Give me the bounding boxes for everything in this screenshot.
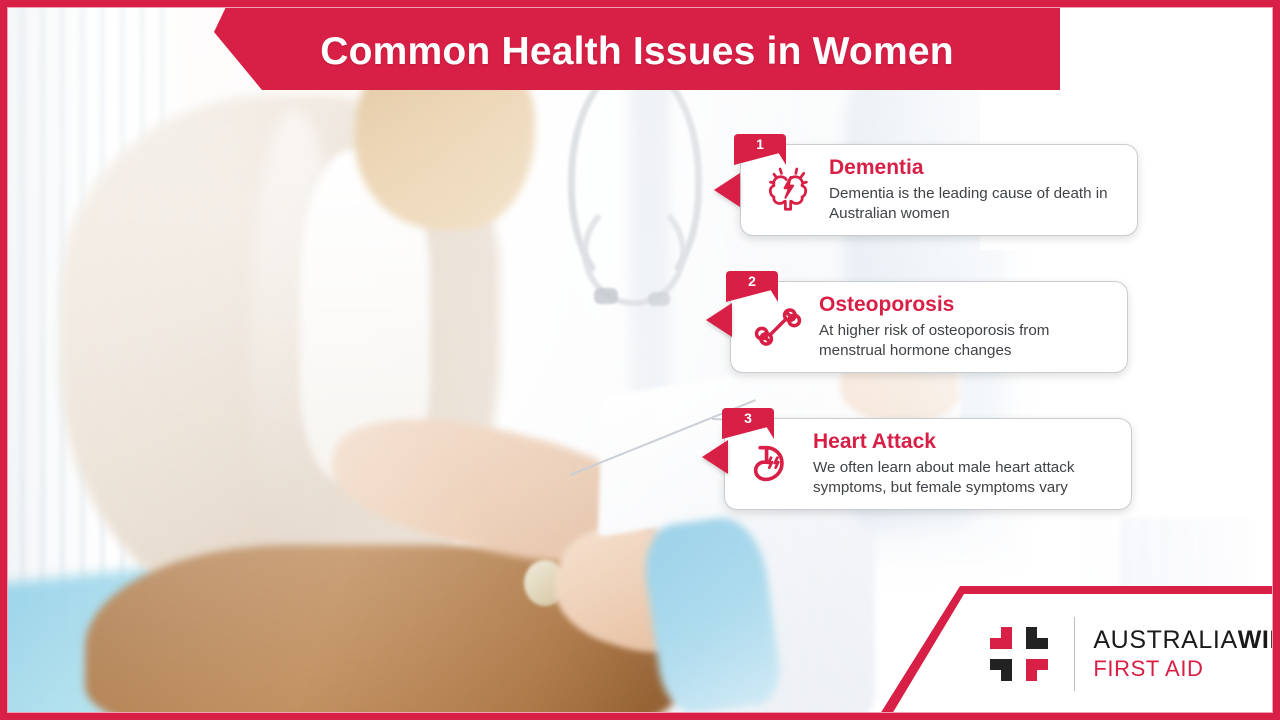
card-description: We often learn about male heart attack s…: [813, 458, 1117, 498]
card-pointer-arrow-3: [702, 440, 728, 474]
page-title: Common Health Issues in Women: [320, 30, 954, 74]
logo-brand-bold: WIDE: [1238, 626, 1280, 654]
title-banner: Common Health Issues in Women: [214, 0, 1060, 90]
card-pointer-arrow-1: [714, 173, 740, 207]
info-card-dementia[interactable]: Dementia Dementia is the leading cause o…: [740, 144, 1138, 236]
logo-wordmark: AUSTRALIAWIDE FIRST AID: [1093, 627, 1280, 681]
info-card-heart-attack[interactable]: Heart Attack We often learn about male h…: [724, 418, 1132, 510]
card-number: 1: [756, 137, 764, 151]
card-description: Dementia is the leading cause of death i…: [829, 184, 1123, 224]
card-pointer-arrow-2: [706, 303, 732, 337]
card-title: Dementia: [829, 156, 1123, 180]
info-card-osteoporosis[interactable]: Osteoporosis At higher risk of osteoporo…: [730, 281, 1128, 373]
logo-brand-thin: AUSTRALIA: [1093, 626, 1237, 654]
card-title: Osteoporosis: [819, 293, 1113, 317]
bone-icon: [731, 299, 817, 355]
card-description: At higher risk of osteoporosis from mens…: [819, 321, 1113, 361]
brain-icon: [741, 162, 827, 218]
card-number: 2: [748, 274, 756, 288]
logo-divider: [1074, 617, 1075, 691]
logo-tagline: FIRST AID: [1093, 656, 1280, 681]
australia-wide-cross-logo-icon: [984, 619, 1054, 689]
infographic-canvas: Common Health Issues in Women Dementia D…: [0, 0, 1280, 720]
card-number: 3: [744, 411, 752, 425]
card-title: Heart Attack: [813, 430, 1117, 454]
heart-pulse-icon: [725, 435, 811, 493]
